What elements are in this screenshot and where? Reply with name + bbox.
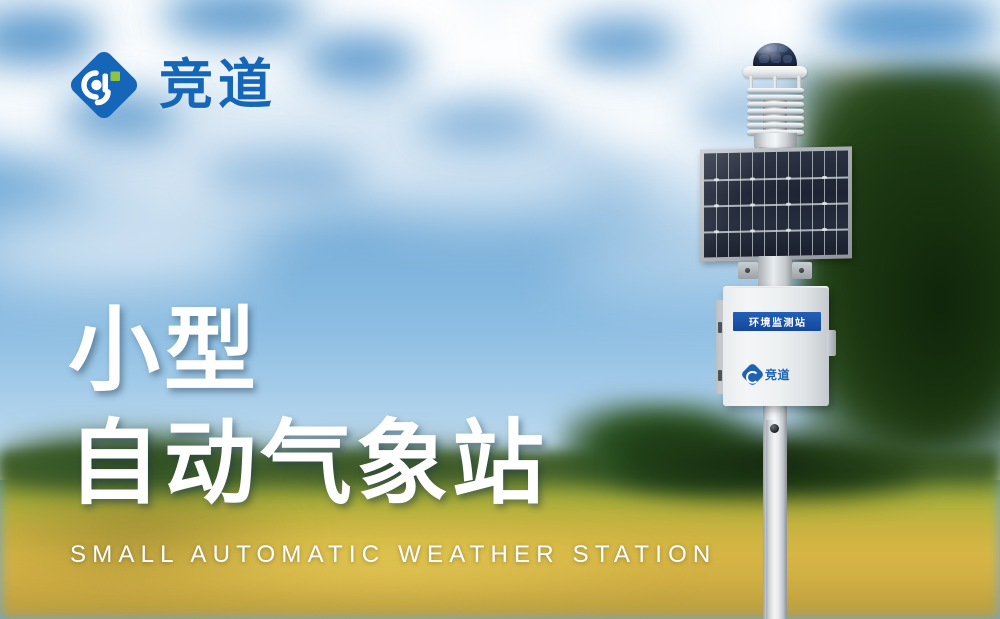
panel-pole-clamp	[758, 256, 792, 288]
brand-name-text: 竞道	[159, 58, 277, 112]
jingdao-logo-mark-icon	[740, 362, 764, 386]
foreground-tree	[845, 150, 1000, 450]
sky-patch	[300, 35, 420, 83]
radiation-shield	[747, 88, 804, 135]
headline-line-2: 自动气象站	[68, 415, 688, 514]
headline-line-1: 小型	[68, 302, 688, 401]
subtitle-text: SMALL AUTOMATIC WEATHER STATION	[70, 541, 716, 569]
sky-patch	[200, 150, 360, 195]
control-box-logo: 竞道	[744, 366, 790, 383]
pole-screw	[770, 424, 779, 433]
sky-patch	[560, 20, 680, 65]
headline-block: 小型 自动气象站	[68, 302, 688, 515]
jingdao-diamond-logo-icon	[66, 47, 142, 123]
control-box	[723, 288, 829, 406]
brand-logo[interactable]: 竞道	[66, 47, 277, 123]
weather-station-banner: 环境监测站 竞道 竞道 小型 自动气象站 SMALL AUTOMATIC WEA…	[0, 0, 1000, 619]
control-box-latch	[718, 370, 722, 381]
cloud-shape	[330, 130, 630, 215]
control-box-latch	[718, 322, 722, 333]
panel-mount-bracket	[738, 262, 758, 279]
solar-panel	[700, 146, 852, 261]
control-box-tab	[827, 330, 836, 356]
control-box-banner: 环境监测站	[733, 312, 821, 331]
solar-panel-cells	[704, 150, 848, 257]
mounting-pole-lower	[766, 420, 786, 619]
sky-patch	[420, 100, 550, 140]
control-box-logo-text: 竞道	[765, 366, 790, 383]
control-box-banner-text: 环境监测站	[748, 314, 807, 329]
panel-mount-bracket	[792, 262, 812, 279]
